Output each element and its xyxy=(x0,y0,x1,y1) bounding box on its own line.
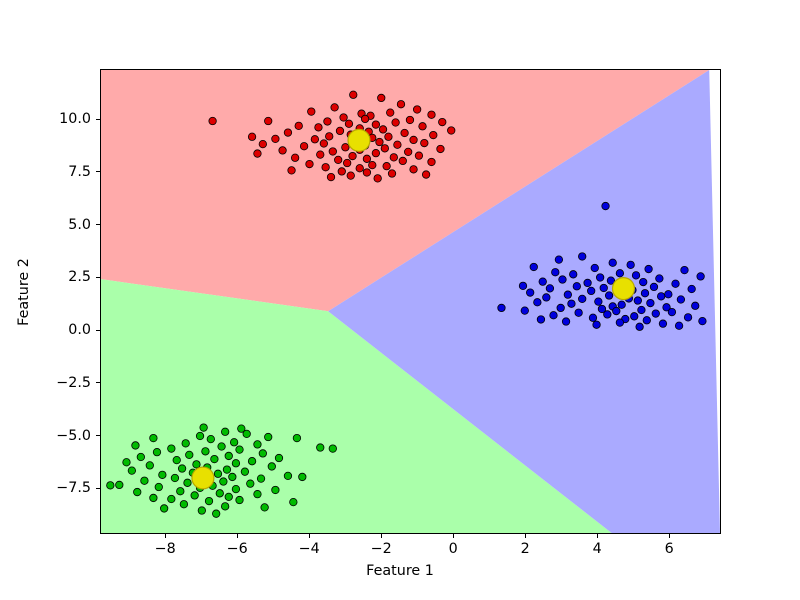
data-point xyxy=(160,505,167,512)
scatter-points-layer xyxy=(101,70,720,533)
data-point xyxy=(697,273,704,280)
data-point xyxy=(212,510,219,517)
data-point xyxy=(447,127,454,134)
y-tick-mark xyxy=(96,277,100,278)
data-point xyxy=(137,453,144,460)
data-point xyxy=(659,320,666,327)
x-tick-mark xyxy=(165,534,166,538)
data-point xyxy=(643,317,650,324)
data-point xyxy=(168,495,175,502)
data-point xyxy=(369,161,376,168)
data-point xyxy=(177,487,184,494)
data-point xyxy=(150,434,157,441)
data-point xyxy=(290,498,297,505)
y-tick-mark xyxy=(96,488,100,489)
y-tick-label: 2.5 xyxy=(0,269,91,285)
data-point xyxy=(530,263,537,270)
data-point xyxy=(616,319,623,326)
data-point xyxy=(647,299,654,306)
data-point xyxy=(519,282,526,289)
data-point xyxy=(238,425,245,432)
data-point xyxy=(306,160,313,167)
data-point xyxy=(575,309,582,316)
data-point xyxy=(618,301,625,308)
x-tick-label: 0 xyxy=(449,541,458,557)
data-point xyxy=(587,287,594,294)
data-point xyxy=(202,448,209,455)
x-tick-label: −6 xyxy=(227,541,248,557)
data-point xyxy=(410,166,417,173)
data-point xyxy=(331,104,338,111)
data-point xyxy=(338,168,345,175)
data-point xyxy=(413,106,420,113)
data-point xyxy=(410,136,417,143)
data-point xyxy=(150,494,157,501)
data-point xyxy=(223,466,230,473)
data-point xyxy=(232,485,239,492)
data-point xyxy=(630,313,637,320)
data-point xyxy=(128,467,135,474)
data-point xyxy=(428,111,435,118)
data-point xyxy=(123,459,130,466)
cluster-green xyxy=(107,424,337,518)
data-point xyxy=(546,285,553,292)
x-tick-mark xyxy=(597,534,598,538)
data-point xyxy=(216,490,223,497)
data-point xyxy=(191,492,198,499)
data-point xyxy=(376,138,383,145)
data-point xyxy=(200,424,207,431)
data-point xyxy=(221,503,228,510)
data-point xyxy=(171,474,178,481)
data-point xyxy=(539,278,546,285)
data-point xyxy=(638,306,645,313)
data-point xyxy=(207,435,214,442)
data-point xyxy=(645,265,652,272)
data-point xyxy=(688,285,695,292)
data-point xyxy=(340,114,347,121)
data-point xyxy=(347,172,354,179)
data-point xyxy=(521,307,528,314)
data-point xyxy=(284,472,291,479)
y-axis-label: Feature 2 xyxy=(16,192,32,392)
matplotlib-figure: 10.07.55.02.50.0−2.5−5.0−7.5 −8−6−4−2024… xyxy=(0,0,800,600)
data-point xyxy=(399,157,406,164)
data-point xyxy=(397,100,404,107)
x-tick-mark xyxy=(669,534,670,538)
data-point xyxy=(320,140,327,147)
data-point xyxy=(363,169,370,176)
y-tick-mark xyxy=(96,224,100,225)
data-point xyxy=(247,480,254,487)
data-point xyxy=(388,170,395,177)
data-point xyxy=(555,256,562,263)
data-point xyxy=(308,108,315,115)
x-tick-label: 2 xyxy=(521,541,530,557)
data-point xyxy=(404,148,411,155)
data-point xyxy=(345,120,352,127)
data-point xyxy=(329,445,336,452)
data-point xyxy=(526,289,533,296)
y-tick-label: −5.0 xyxy=(0,428,91,444)
centroid-marker xyxy=(192,467,214,489)
data-point xyxy=(322,163,329,170)
data-point xyxy=(394,141,401,148)
data-point xyxy=(236,446,243,453)
data-point xyxy=(225,493,232,500)
x-tick-mark xyxy=(453,534,454,538)
data-point xyxy=(363,155,370,162)
data-point xyxy=(589,314,596,321)
data-point xyxy=(591,264,598,271)
data-point xyxy=(268,463,275,470)
data-point xyxy=(343,159,350,166)
data-point xyxy=(569,271,576,278)
y-tick-label: 7.5 xyxy=(0,164,91,180)
data-point xyxy=(232,460,239,467)
x-tick-mark xyxy=(309,534,310,538)
data-point xyxy=(641,289,648,296)
x-tick-mark xyxy=(237,534,238,538)
data-point xyxy=(211,455,218,462)
data-point xyxy=(437,145,444,152)
data-point xyxy=(236,496,243,503)
data-point xyxy=(146,462,153,469)
data-point xyxy=(184,479,191,486)
data-point xyxy=(261,504,268,511)
data-point xyxy=(329,148,336,155)
data-point xyxy=(415,152,422,159)
data-point xyxy=(254,490,261,497)
data-point xyxy=(656,275,663,282)
x-tick-label: −8 xyxy=(155,541,176,557)
data-point xyxy=(596,274,603,281)
data-point xyxy=(383,162,390,169)
data-point xyxy=(220,478,227,485)
data-point xyxy=(275,454,282,461)
data-point xyxy=(378,94,385,101)
data-point xyxy=(317,151,324,158)
data-point xyxy=(218,443,225,450)
data-point xyxy=(677,296,684,303)
data-point xyxy=(327,173,334,180)
data-point xyxy=(652,310,659,317)
data-point xyxy=(605,292,612,299)
data-point xyxy=(173,456,180,463)
data-point xyxy=(657,293,664,300)
y-tick-mark xyxy=(96,171,100,172)
data-point xyxy=(107,482,114,489)
data-point xyxy=(557,304,564,311)
x-tick-mark xyxy=(525,534,526,538)
data-point xyxy=(406,116,413,123)
data-point xyxy=(311,136,318,143)
data-point xyxy=(272,135,279,142)
y-tick-mark xyxy=(96,330,100,331)
data-point xyxy=(141,477,148,484)
data-point xyxy=(254,150,261,157)
data-point xyxy=(386,109,393,116)
data-point xyxy=(132,442,139,449)
cluster-blue xyxy=(498,202,706,330)
y-tick-mark xyxy=(96,119,100,120)
data-point xyxy=(159,471,166,478)
data-point xyxy=(374,175,381,182)
x-tick-label: −2 xyxy=(371,541,392,557)
data-point xyxy=(616,270,623,277)
plot-area xyxy=(100,69,721,534)
data-point xyxy=(264,433,271,440)
data-point xyxy=(419,123,426,130)
data-point xyxy=(534,299,541,306)
data-point xyxy=(259,450,266,457)
data-point xyxy=(498,304,505,311)
data-point xyxy=(295,122,302,129)
data-point xyxy=(552,268,559,275)
data-point xyxy=(636,323,643,330)
data-point xyxy=(672,280,679,287)
data-point xyxy=(665,291,672,298)
data-point xyxy=(627,261,634,268)
data-point xyxy=(257,475,264,482)
cluster-red xyxy=(209,91,455,182)
data-point xyxy=(559,276,566,283)
data-point xyxy=(186,451,193,458)
x-axis-label: Feature 1 xyxy=(0,563,800,579)
data-point xyxy=(639,278,646,285)
data-point xyxy=(578,253,585,260)
data-point xyxy=(684,314,691,321)
data-point xyxy=(336,127,343,134)
data-point xyxy=(681,266,688,273)
data-point xyxy=(422,171,429,178)
data-point xyxy=(600,284,607,291)
data-point xyxy=(430,131,437,138)
data-point xyxy=(578,295,585,302)
data-point xyxy=(537,316,544,323)
data-point xyxy=(692,302,699,309)
data-point xyxy=(381,145,388,152)
data-point xyxy=(198,507,205,514)
data-point xyxy=(439,118,446,125)
data-point xyxy=(392,119,399,126)
y-tick-label: 5.0 xyxy=(0,217,91,233)
y-tick-mark xyxy=(96,382,100,383)
data-point xyxy=(180,501,187,508)
y-tick-label: 0.0 xyxy=(0,322,91,338)
data-point xyxy=(675,322,682,329)
data-point xyxy=(300,142,307,149)
data-point xyxy=(168,445,175,452)
data-point xyxy=(221,428,228,435)
data-point xyxy=(205,497,212,504)
data-point xyxy=(401,129,408,136)
data-point xyxy=(334,156,341,163)
data-point xyxy=(573,283,580,290)
x-tick-label: 4 xyxy=(593,541,602,557)
x-tick-mark xyxy=(381,534,382,538)
data-point xyxy=(349,152,356,159)
centroid-marker xyxy=(613,278,635,300)
data-point xyxy=(324,118,331,125)
y-tick-mark xyxy=(96,435,100,436)
data-point xyxy=(264,117,271,124)
data-point xyxy=(155,483,162,490)
data-point xyxy=(650,283,657,290)
data-point xyxy=(609,259,616,266)
data-point xyxy=(699,317,706,324)
data-point xyxy=(293,434,300,441)
data-point xyxy=(350,91,357,98)
data-point xyxy=(116,481,123,488)
data-point xyxy=(428,158,435,165)
data-point xyxy=(248,457,255,464)
data-point xyxy=(634,297,641,304)
data-point xyxy=(153,448,160,455)
x-tick-label: −4 xyxy=(299,541,320,557)
data-point xyxy=(632,272,639,279)
data-point xyxy=(254,441,261,448)
data-point xyxy=(379,126,386,133)
data-point xyxy=(178,465,185,472)
data-point xyxy=(668,308,675,315)
data-point xyxy=(595,298,602,305)
data-point xyxy=(315,124,322,131)
data-point xyxy=(214,470,221,477)
data-point xyxy=(325,133,332,140)
data-point xyxy=(372,149,379,156)
data-point xyxy=(229,473,236,480)
data-point xyxy=(288,167,295,174)
data-point xyxy=(225,452,232,459)
data-point xyxy=(356,165,363,172)
data-point xyxy=(568,300,575,307)
data-point xyxy=(602,202,609,209)
data-point xyxy=(284,129,291,136)
data-point xyxy=(182,440,189,447)
data-point xyxy=(613,307,620,314)
y-tick-label: −7.5 xyxy=(0,480,91,496)
data-point xyxy=(299,473,306,480)
data-point xyxy=(317,444,324,451)
data-point xyxy=(193,461,200,468)
data-point xyxy=(241,468,248,475)
y-tick-label: 10.0 xyxy=(0,111,91,127)
y-tick-label: −2.5 xyxy=(0,375,91,391)
data-point xyxy=(421,139,428,146)
data-point xyxy=(385,133,392,140)
data-point xyxy=(584,279,591,286)
data-point xyxy=(593,321,600,328)
data-point xyxy=(209,117,216,124)
data-point xyxy=(604,311,611,318)
data-point xyxy=(342,144,349,151)
data-point xyxy=(230,439,237,446)
data-point xyxy=(196,432,203,439)
data-point xyxy=(134,488,141,495)
data-point xyxy=(550,312,557,319)
data-point xyxy=(248,133,255,140)
data-point xyxy=(272,486,279,493)
data-point xyxy=(361,115,368,122)
data-point xyxy=(564,291,571,298)
data-point xyxy=(279,147,286,154)
x-tick-label: 6 xyxy=(665,541,674,557)
data-point xyxy=(259,140,266,147)
data-point xyxy=(291,154,298,161)
data-point xyxy=(372,121,379,128)
data-point xyxy=(390,154,397,161)
centroid-marker xyxy=(348,129,370,151)
data-point xyxy=(543,294,550,301)
data-point xyxy=(562,318,569,325)
